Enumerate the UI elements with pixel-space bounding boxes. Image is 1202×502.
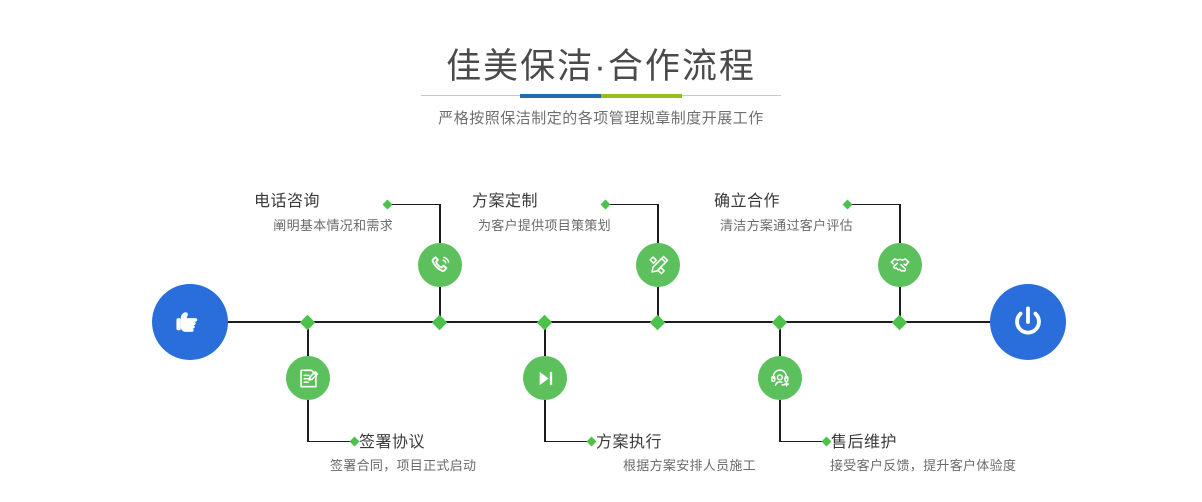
step-1-label-dot [383,199,393,209]
handshake-icon [887,252,913,278]
divider-blue-segment [520,94,601,98]
axis-diamond-6 [892,314,908,330]
step-4-node[interactable] [523,356,567,400]
page-subtitle: 严格按照保洁制定的各项管理规章制度开展工作 [0,107,1202,128]
step-2-node[interactable] [286,356,330,400]
step-2-elbow [308,441,354,442]
flow-diagram-canvas: 佳美保洁·合作流程 严格按照保洁制定的各项管理规章制度开展工作 [0,0,1202,502]
step-5-title: 确立合作 [714,187,780,211]
step-4-subtitle: 根据方案安排人员施工 [623,455,756,474]
axis-diamond-1 [300,314,316,330]
step-6-subtitle: 接受客户反馈，提升客户体验度 [830,455,1016,474]
step-2-stem-lower [307,400,309,442]
step-2-title: 签署协议 [359,428,425,452]
power-icon [1007,301,1049,343]
step-1-node[interactable] [418,243,462,287]
divider-green-segment [601,94,682,98]
step-4-stem-lower [544,400,546,442]
page-title: 佳美保洁·合作流程 [0,38,1202,89]
step-5-subtitle: 清洁方案通过客户评估 [720,215,853,234]
step-3-subtitle: 为客户提供项目策策划 [478,215,611,234]
step-6-title: 售后维护 [831,428,897,452]
step-1-title: 电话咨询 [254,187,320,211]
phone-call-icon [428,253,453,278]
step-3-title: 方案定制 [472,187,538,211]
sign-document-icon [296,366,321,391]
step-3-elbow [607,204,658,205]
timeline-start-node[interactable] [152,284,228,360]
step-3-label-dot [601,199,611,209]
title-divider [421,94,781,98]
step-1-stem-upper [439,204,441,243]
step-5-node[interactable] [878,243,922,287]
step-4-elbow [545,441,591,442]
step-1-subtitle: 阐明基本情况和需求 [273,215,393,234]
step-5-stem-upper [899,204,901,243]
step-5-label-dot [843,199,853,209]
customer-support-add-icon [768,366,793,391]
step-1-elbow [389,204,440,205]
step-3-node[interactable] [636,243,680,287]
step-4-title: 方案执行 [596,428,662,452]
axis-diamond-5 [772,314,788,330]
pencil-ruler-icon [646,253,671,278]
step-2-label-dot [350,436,360,446]
timeline-end-node[interactable] [990,284,1066,360]
play-execute-icon [533,366,558,391]
axis-diamond-2 [432,314,448,330]
step-6-node[interactable] [758,356,802,400]
step-6-elbow [780,441,826,442]
pointing-hand-icon [169,301,211,343]
step-5-elbow [849,204,900,205]
step-6-stem-lower [779,400,781,442]
axis-diamond-3 [537,314,553,330]
step-3-stem-upper [657,204,659,243]
step-6-label-dot [822,436,832,446]
step-2-subtitle: 签署合同，项目正式启动 [330,455,476,474]
axis-diamond-4 [650,314,666,330]
step-4-label-dot [587,436,597,446]
